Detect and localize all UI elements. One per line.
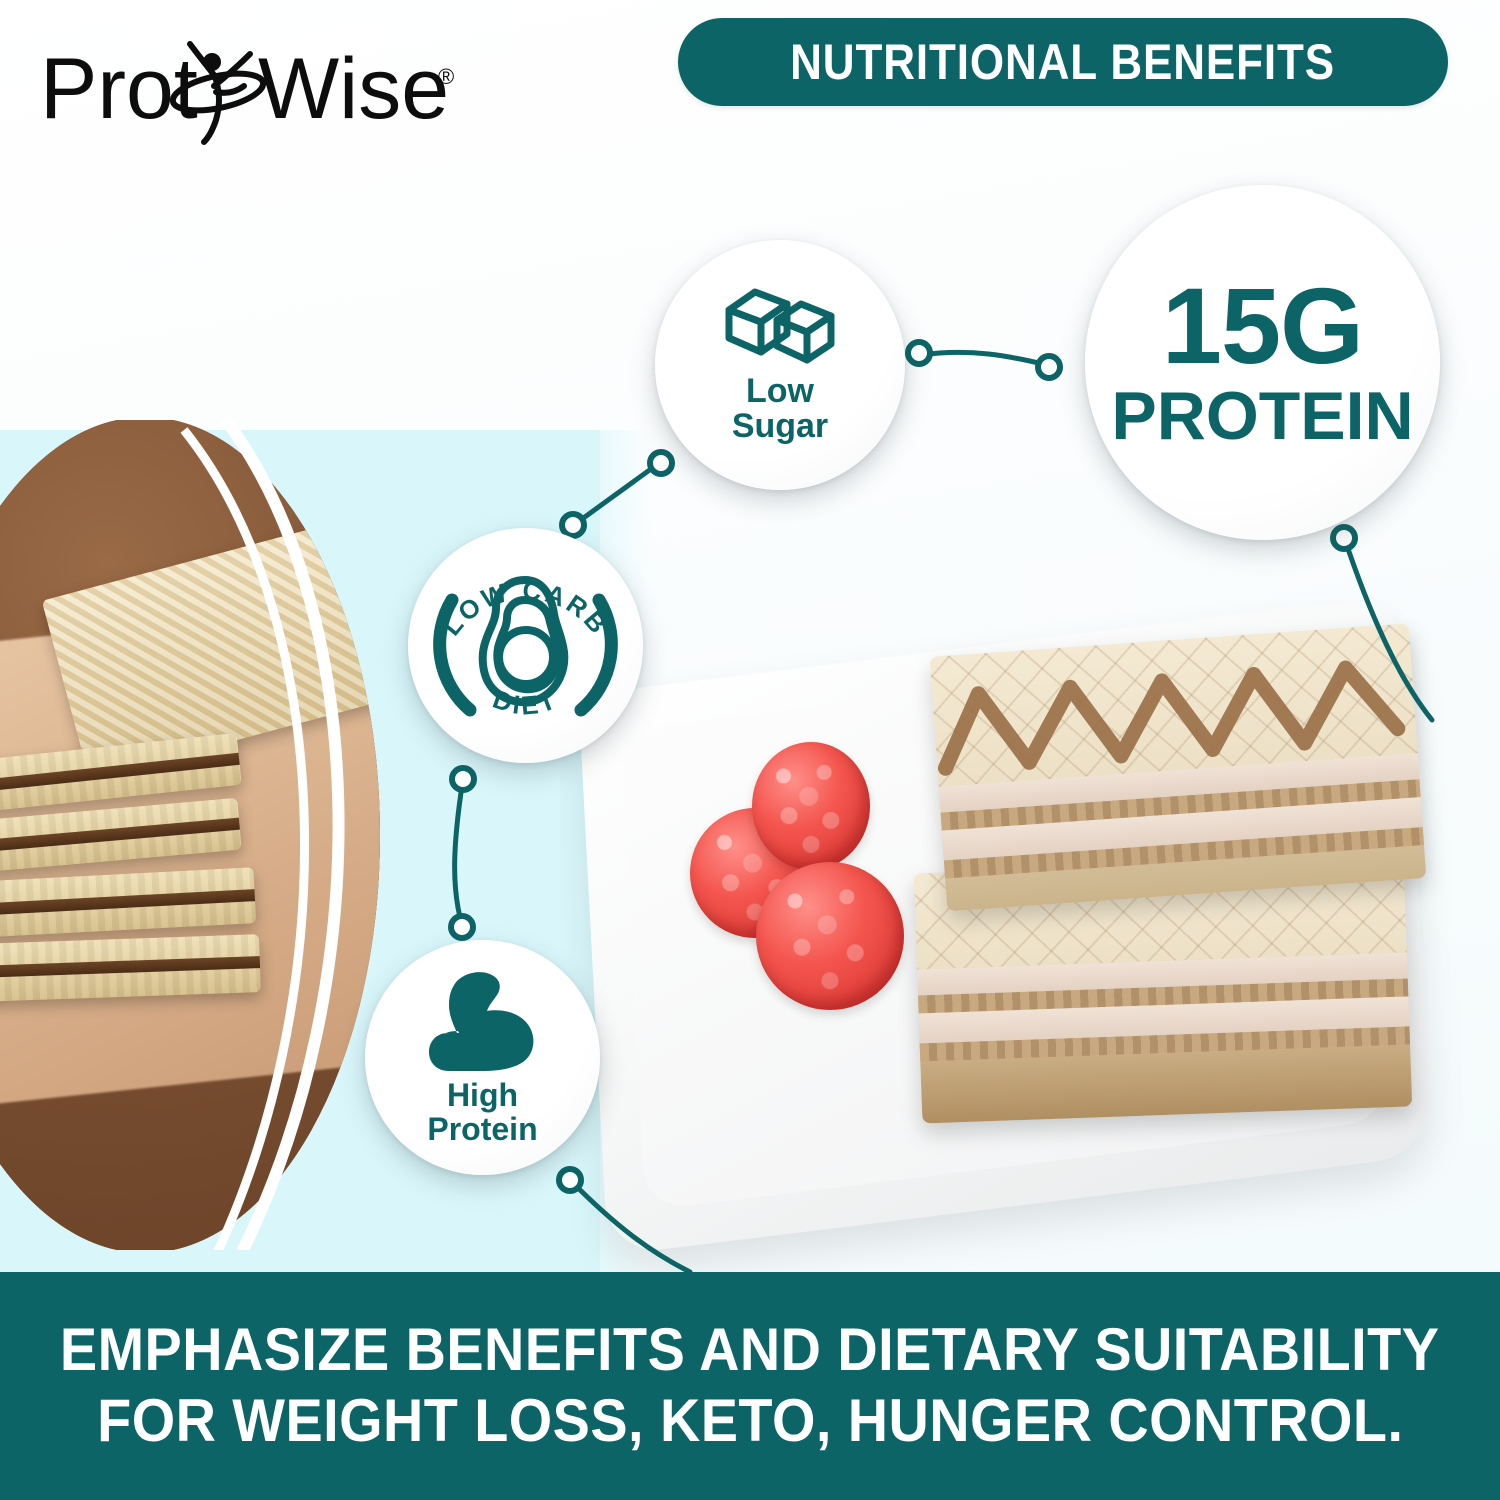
header-title-pill: NUTRITIONAL BENEFITS <box>678 18 1448 106</box>
page-title: NUTRITIONAL BENEFITS <box>791 33 1336 91</box>
high-protein-line1: High <box>447 1077 518 1113</box>
wafer-stack <box>918 640 1428 1120</box>
svg-text:Wise: Wise <box>258 41 449 137</box>
svg-text:Prot: Prot <box>40 41 198 137</box>
protein-amount: 15G <box>1162 275 1363 378</box>
flexed-bicep-icon <box>423 969 543 1077</box>
raspberry <box>752 742 870 870</box>
low-sugar-label: Low Sugar <box>732 374 828 445</box>
low-sugar-line2: Sugar <box>732 407 828 445</box>
banner-line-1: EMPHASIZE BENEFITS AND DIETARY SUITABILI… <box>60 1315 1439 1386</box>
marketing-infographic: Prot Wise ® NUTRITIONAL BENEFITS <box>0 0 1500 1500</box>
high-protein-label: High Protein <box>427 1079 537 1146</box>
wafer-bar-top <box>930 624 1427 912</box>
low-sugar-line1: Low <box>746 372 814 410</box>
low-carb-diet-graphic: LOW CARB DIET <box>408 528 643 763</box>
svg-text:®: ® <box>438 64 454 89</box>
badge-low-sugar[interactable]: Low Sugar <box>655 240 905 490</box>
banner-line-2: FOR WEIGHT LOSS, KETO, HUNGER CONTROL. <box>97 1386 1403 1457</box>
raspberry <box>756 862 904 1010</box>
sugar-cubes-icon <box>721 286 839 370</box>
brand-logo[interactable]: Prot Wise ® <box>40 36 470 146</box>
product-photo-hero <box>560 600 1500 1272</box>
protein-label: PROTEIN <box>1111 382 1413 450</box>
badge-15g-protein[interactable]: 15G PROTEIN <box>1085 185 1440 540</box>
badge-low-carb-diet[interactable]: LOW CARB DIET <box>408 528 643 763</box>
badge-high-protein[interactable]: High Protein <box>365 940 600 1175</box>
high-protein-line2: Protein <box>427 1111 537 1147</box>
bottom-message-banner: EMPHASIZE BENEFITS AND DIETARY SUITABILI… <box>0 1272 1500 1500</box>
